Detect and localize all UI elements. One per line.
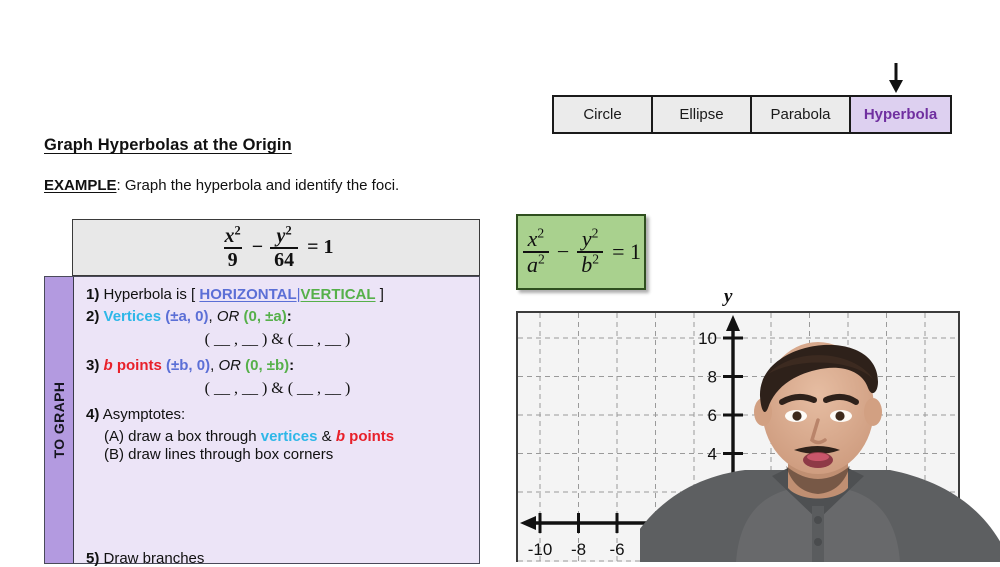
step-5-number: 5): [86, 550, 99, 567]
step-4a-b-italic: b: [336, 428, 345, 445]
problem-equation: x2 9 − y2 64 = 1: [218, 226, 333, 270]
step-1-close-bracket: ]: [380, 286, 384, 303]
step-1-vertical-option[interactable]: VERTICAL: [301, 286, 376, 303]
step-3: 3) b points (±b, 0), OR (0, ±b):: [86, 358, 469, 373]
x-tick-label--8: -8: [571, 540, 586, 559]
step-4a-vertices: vertices: [261, 428, 318, 445]
general-formula-box: x2 a2 − y2 b2 = 1: [516, 214, 646, 290]
example-label: EXAMPLE: [44, 177, 117, 194]
x-tick-label--6: -6: [609, 540, 624, 559]
page-title: Graph Hyperbolas at the Origin: [44, 136, 292, 155]
eq-num-x: x: [224, 225, 234, 247]
eq-den-x: 9: [224, 247, 242, 270]
green-num-x: x: [528, 226, 538, 251]
down-arrow-icon: [884, 62, 908, 94]
step-4a-amp: &: [317, 428, 335, 445]
green-den-x: a: [527, 252, 538, 277]
step-2-keyword: Vertices: [104, 308, 162, 325]
step-4-line-a: (A) draw a box through vertices & b poin…: [104, 429, 469, 444]
step-2-form-b: (0, ±a): [244, 308, 287, 325]
x-tick-label--10: -10: [528, 540, 553, 559]
step-3-or: OR: [218, 357, 241, 374]
step-2-blanks[interactable]: ( __ , __ ) & ( __ , __ ): [86, 332, 469, 348]
to-graph-steps-panel: TO GRAPH 1) Hyperbola is [ HORIZONTAL|VE…: [44, 276, 480, 564]
step-3-colon: :: [289, 357, 294, 374]
step-2-number: 2): [86, 308, 99, 325]
step-4: 4) Asymptotes:: [86, 407, 469, 422]
conic-sections-tab-strip: Circle Ellipse Parabola Hyperbola: [552, 95, 952, 134]
eq-equals: = 1: [307, 236, 333, 259]
step-1-text: Hyperbola is [: [104, 286, 196, 303]
step-5-text: Draw branches: [104, 550, 205, 567]
step-3-form-a: (±b, 0): [166, 357, 210, 374]
step-3-comma: ,: [210, 357, 214, 374]
to-graph-side-tab: TO GRAPH: [45, 277, 74, 563]
step-1-number: 1): [86, 286, 99, 303]
step-2-form-a: (±a, 0): [165, 308, 208, 325]
tab-circle-label: Circle: [583, 106, 621, 123]
green-den-y: b: [581, 252, 592, 277]
problem-equation-box: x2 9 − y2 64 = 1: [72, 219, 480, 276]
step-3-keyword-rest: points: [113, 357, 162, 374]
general-formula: x2 a2 − y2 b2 = 1: [521, 228, 641, 276]
tab-parabola[interactable]: Parabola: [752, 97, 851, 132]
step-4-number: 4): [86, 406, 99, 423]
step-5: 5) Draw branches: [74, 551, 204, 566]
step-2-or: OR: [217, 308, 240, 325]
example-line: EXAMPLE: Graph the hyperbola and identif…: [44, 177, 399, 194]
presenter-video-overlay: [640, 330, 1000, 562]
step-2-colon: :: [287, 308, 292, 325]
example-text: : Graph the hyperbola and identify the f…: [117, 177, 400, 194]
step-4-title: Asymptotes:: [103, 406, 186, 423]
tab-parabola-label: Parabola: [770, 106, 830, 123]
step-4-line-b: (B) draw lines through box corners: [104, 447, 469, 462]
step-1-horizontal-option[interactable]: HORIZONTAL: [199, 286, 296, 303]
eq-operator: −: [252, 236, 263, 259]
step-3-number: 3): [86, 357, 99, 374]
tab-hyperbola[interactable]: Hyperbola: [851, 97, 950, 132]
steps-body: 1) Hyperbola is [ HORIZONTAL|VERTICAL ] …: [74, 277, 479, 563]
step-2-comma: ,: [208, 308, 212, 325]
tab-ellipse[interactable]: Ellipse: [653, 97, 752, 132]
y-axis-label: y: [724, 286, 732, 308]
step-4a-pre: (A) draw a box through: [104, 428, 261, 445]
tab-hyperbola-label: Hyperbola: [864, 106, 937, 123]
presenter-figure: [640, 330, 1000, 562]
step-3-blanks[interactable]: ( __ , __ ) & ( __ , __ ): [86, 381, 469, 397]
tab-circle[interactable]: Circle: [554, 97, 653, 132]
step-1: 1) Hyperbola is [ HORIZONTAL|VERTICAL ]: [86, 287, 469, 302]
to-graph-side-label: TO GRAPH: [51, 382, 67, 459]
tab-ellipse-label: Ellipse: [679, 106, 723, 123]
step-3-keyword-italic: b: [104, 357, 113, 374]
green-num-y: y: [582, 226, 592, 251]
green-operator: −: [557, 239, 569, 265]
green-equals: = 1: [612, 239, 641, 265]
eq-den-y: 64: [270, 247, 298, 270]
step-3-form-b: (0, ±b): [245, 357, 289, 374]
step-2: 2) Vertices (±a, 0), OR (0, ±a):: [86, 309, 469, 324]
step-4a-b-rest: points: [345, 428, 394, 445]
